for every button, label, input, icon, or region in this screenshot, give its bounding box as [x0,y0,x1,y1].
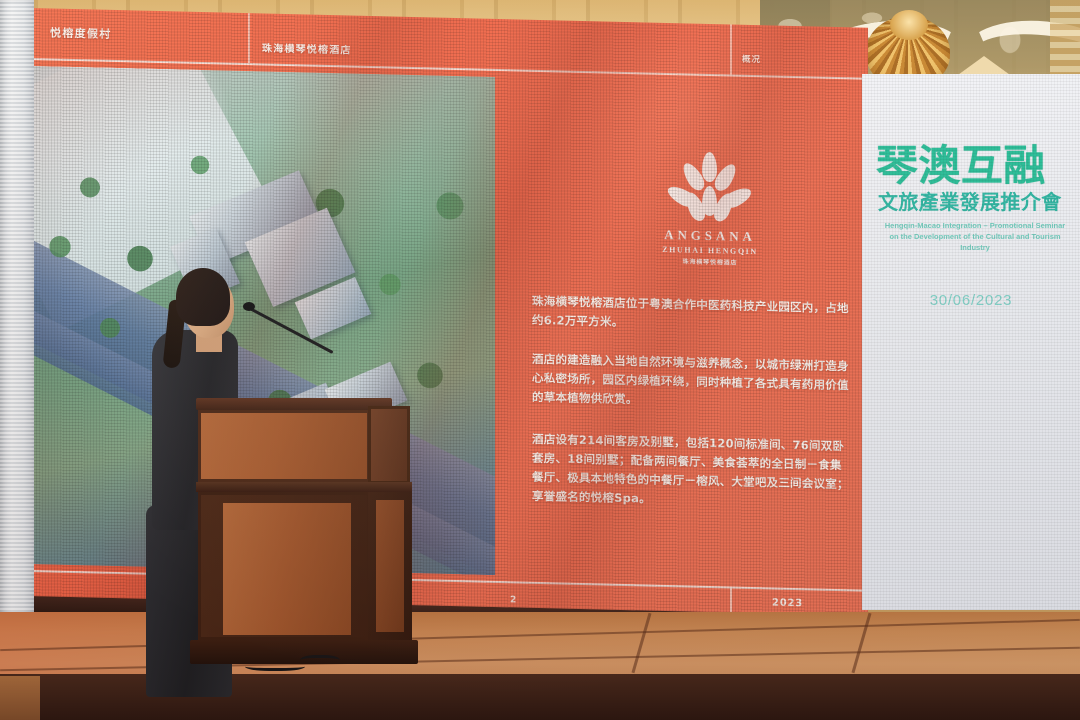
angsana-flower-icon [630,150,790,230]
speaker-hair [176,268,230,326]
angsana-logo: ANGSANA ZHUHAI HENGQIN 珠海横琴悦榕酒店 [630,150,790,268]
podium-side-upper-panel [368,406,410,484]
stage-floor-left-strip [0,676,40,720]
led-screen-left-frame [0,0,34,676]
header-divider-vertical-2 [730,24,732,74]
frame-ridges [0,0,34,676]
slide-header-section-label: 概况 [742,53,761,65]
slide-paragraph-3: 酒店设有214间客房及别墅，包括120间标准间、76间双卧套房、18间别墅；配备… [532,430,850,513]
slide-header-brand-label: 悦榕度假村 [50,24,112,41]
podium-front-inlay [223,503,351,635]
event-date: 30/06/2023 [862,292,1080,309]
event-title: 琴澳互融 [876,132,1072,193]
slide-paragraph-1: 珠海横琴悦榕酒店位于粤澳合作中医药科技产业园区内，占地约6.2万平方米。 [532,292,850,337]
podium-top [196,398,392,410]
podium-front-lower-panel [198,492,370,640]
microphone-icon [243,302,255,311]
podium-side-inlay [376,500,404,632]
event-english-title: Hengqin-Macao Integration – Promotional … [880,220,1070,253]
podium-side-lower-panel [368,492,412,640]
led-screen-right-panel: 琴澳互融 文旅產業發展推介會 Hengqin-Macao Integration… [862,74,1080,610]
slide-footer-year: 2023 [772,597,803,609]
microphone-cable-loop [300,655,340,668]
slide-page-number: 2 [510,595,516,605]
screenshot-root: 悦榕度假村 珠海横琴悦榕酒店 概况 [0,0,1080,720]
podium-front-upper-panel [198,410,370,482]
slide-header-property-label: 珠海横琴悦榕酒店 [262,39,352,56]
podium-mid-rail [196,482,412,492]
microphone-cable [245,660,305,671]
slide-paragraph-2: 酒店的建造融入当地自然环境与滋养概念，以城市绿洲打造身心私密场所，园区内绿植环绕… [532,350,850,414]
event-subtitle: 文旅產業發展推介會 [878,186,1076,215]
header-divider-vertical-1 [248,13,250,63]
relief-core [890,10,928,40]
angsana-chinese-name: 珠海横琴悦榕酒店 [630,255,790,268]
